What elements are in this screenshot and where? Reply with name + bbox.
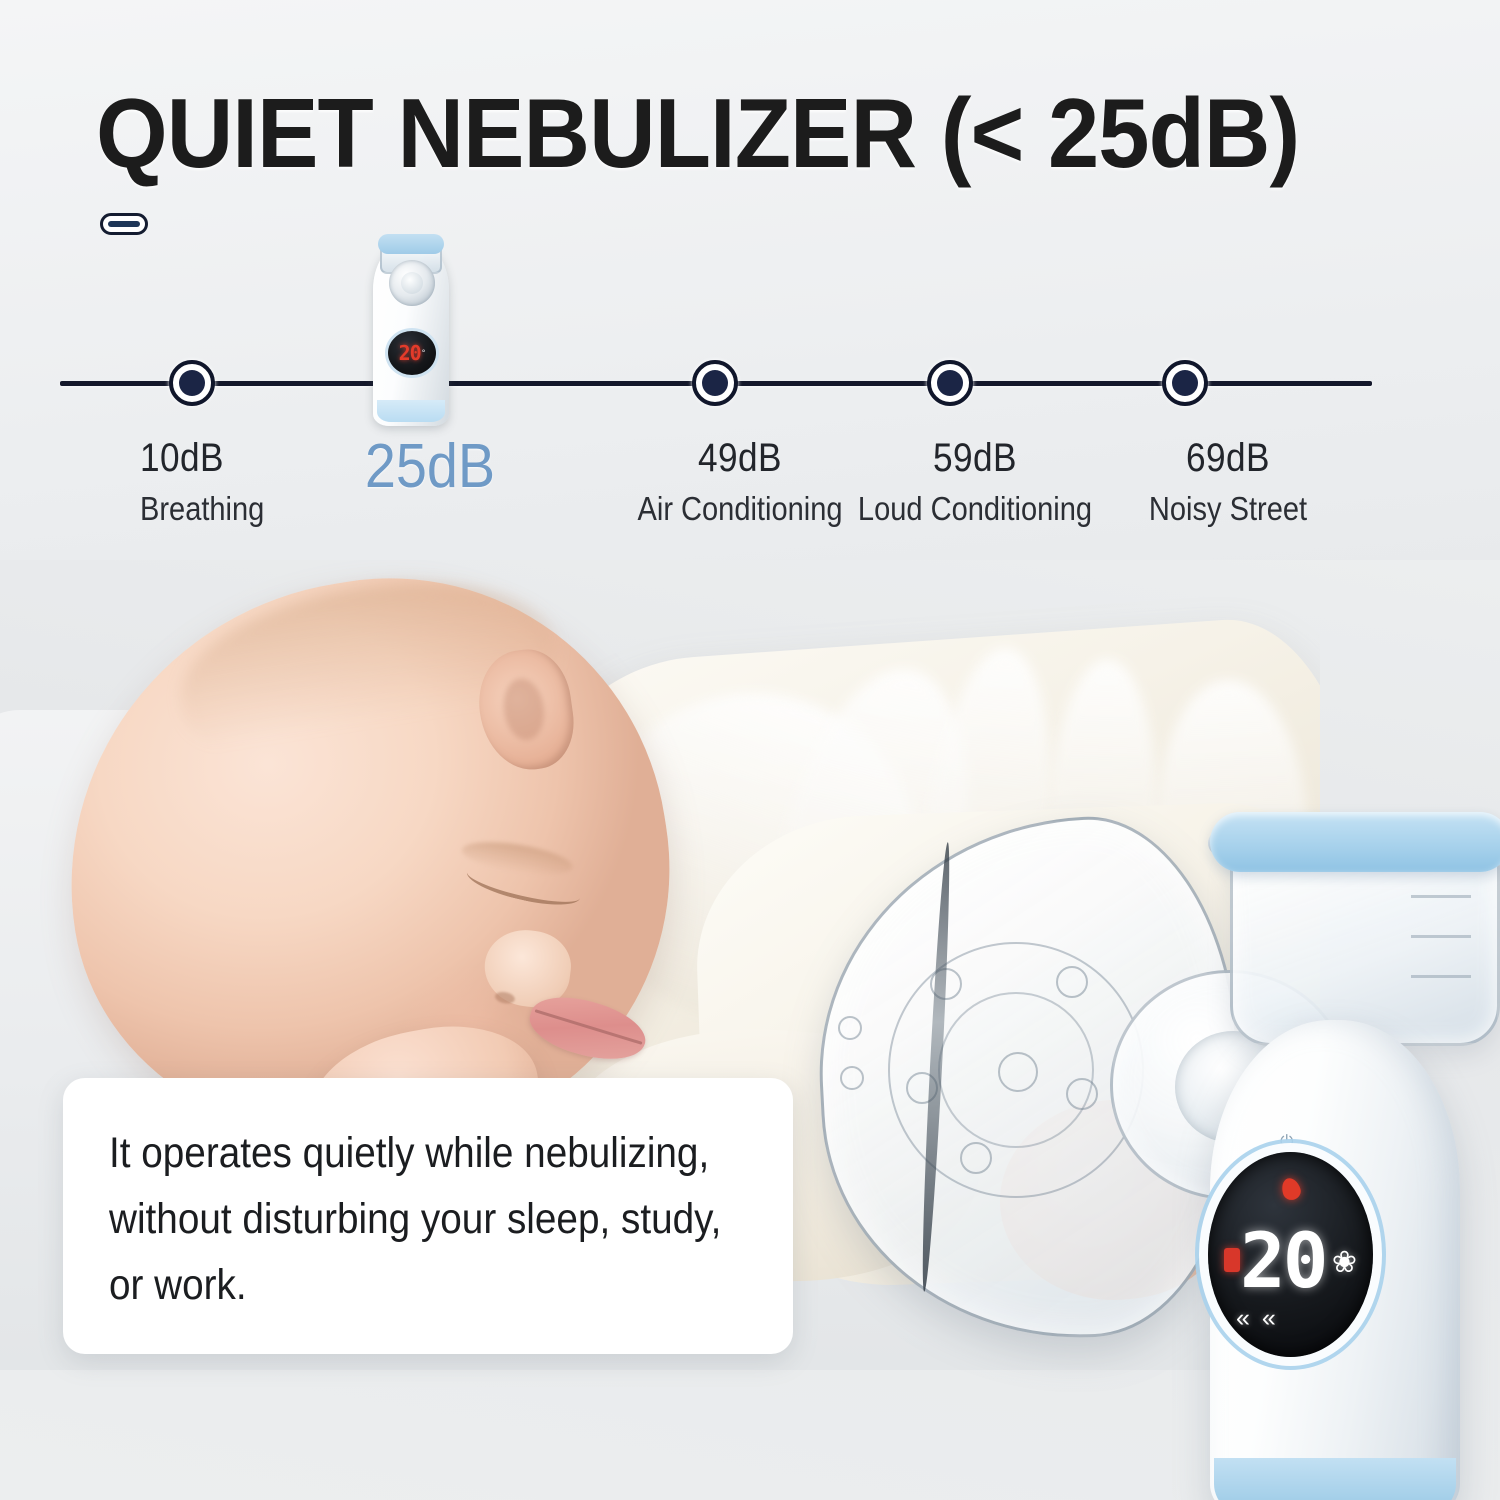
usb-c-port-icon	[100, 213, 148, 235]
mini-nebulizer-marker: 20 °	[365, 226, 457, 426]
scale-dot-49db[interactable]	[692, 360, 738, 406]
scale-db-source: Noisy Street	[1105, 488, 1351, 529]
leaf-icon: ❀	[1332, 1248, 1357, 1278]
mask-vent-hole	[998, 1052, 1038, 1092]
spray-arrows-icon: ««	[1236, 1306, 1346, 1331]
nebulizer-device: ⏻ 20 ❀ ««	[810, 790, 1500, 1500]
mini-display-unit: °	[422, 348, 426, 358]
mini-mask-connector	[389, 260, 435, 306]
caption-text: It operates quietly while nebulizing, wi…	[109, 1120, 746, 1318]
droplet-icon	[1279, 1176, 1303, 1202]
scale-dot-69db[interactable]	[1162, 360, 1208, 406]
page-title: QUIET NEBULIZER (< 25dB)	[96, 78, 1337, 188]
scale-label-59db: 59dB Loud Conditioning	[835, 434, 1115, 529]
handle-accent-band	[1214, 1458, 1456, 1500]
infographic-canvas: QUIET NEBULIZER (< 25dB)	[0, 0, 1500, 1500]
scale-db-source: Loud Conditioning	[852, 488, 1098, 529]
scale-dot-10db[interactable]	[169, 360, 215, 406]
mask-vent-hole	[838, 1016, 862, 1040]
power-icon[interactable]: ⏻	[1280, 1132, 1293, 1152]
mini-display-value: 20	[399, 341, 421, 365]
scale-label-69db: 69dB Noisy Street	[1088, 434, 1368, 529]
chamber-cap[interactable]	[1210, 812, 1500, 872]
mask-vent-hole	[1066, 1078, 1098, 1110]
scale-db-value: 49dB	[617, 434, 863, 482]
scale-label-25db-highlight: 25dB	[280, 432, 580, 502]
mask-vent-hole	[960, 1142, 992, 1174]
scale-db-source: Air Conditioning	[617, 488, 863, 529]
scale-db-value: 59dB	[852, 434, 1098, 482]
battery-indicator	[1224, 1248, 1240, 1272]
scale-db-value-highlight: 25dB	[295, 432, 565, 502]
display-value: 20	[1240, 1222, 1334, 1300]
mask-vent-hole	[1056, 966, 1088, 998]
caption-card: It operates quietly while nebulizing, wi…	[63, 1078, 793, 1354]
scale-dot-59db[interactable]	[927, 360, 973, 406]
mini-device-display: 20 °	[385, 328, 439, 378]
mask-vent-hole	[840, 1066, 864, 1090]
device-display: 20 ❀ ««	[1208, 1152, 1373, 1357]
scale-db-value: 69dB	[1105, 434, 1351, 482]
medicine-chamber	[1230, 846, 1500, 1046]
